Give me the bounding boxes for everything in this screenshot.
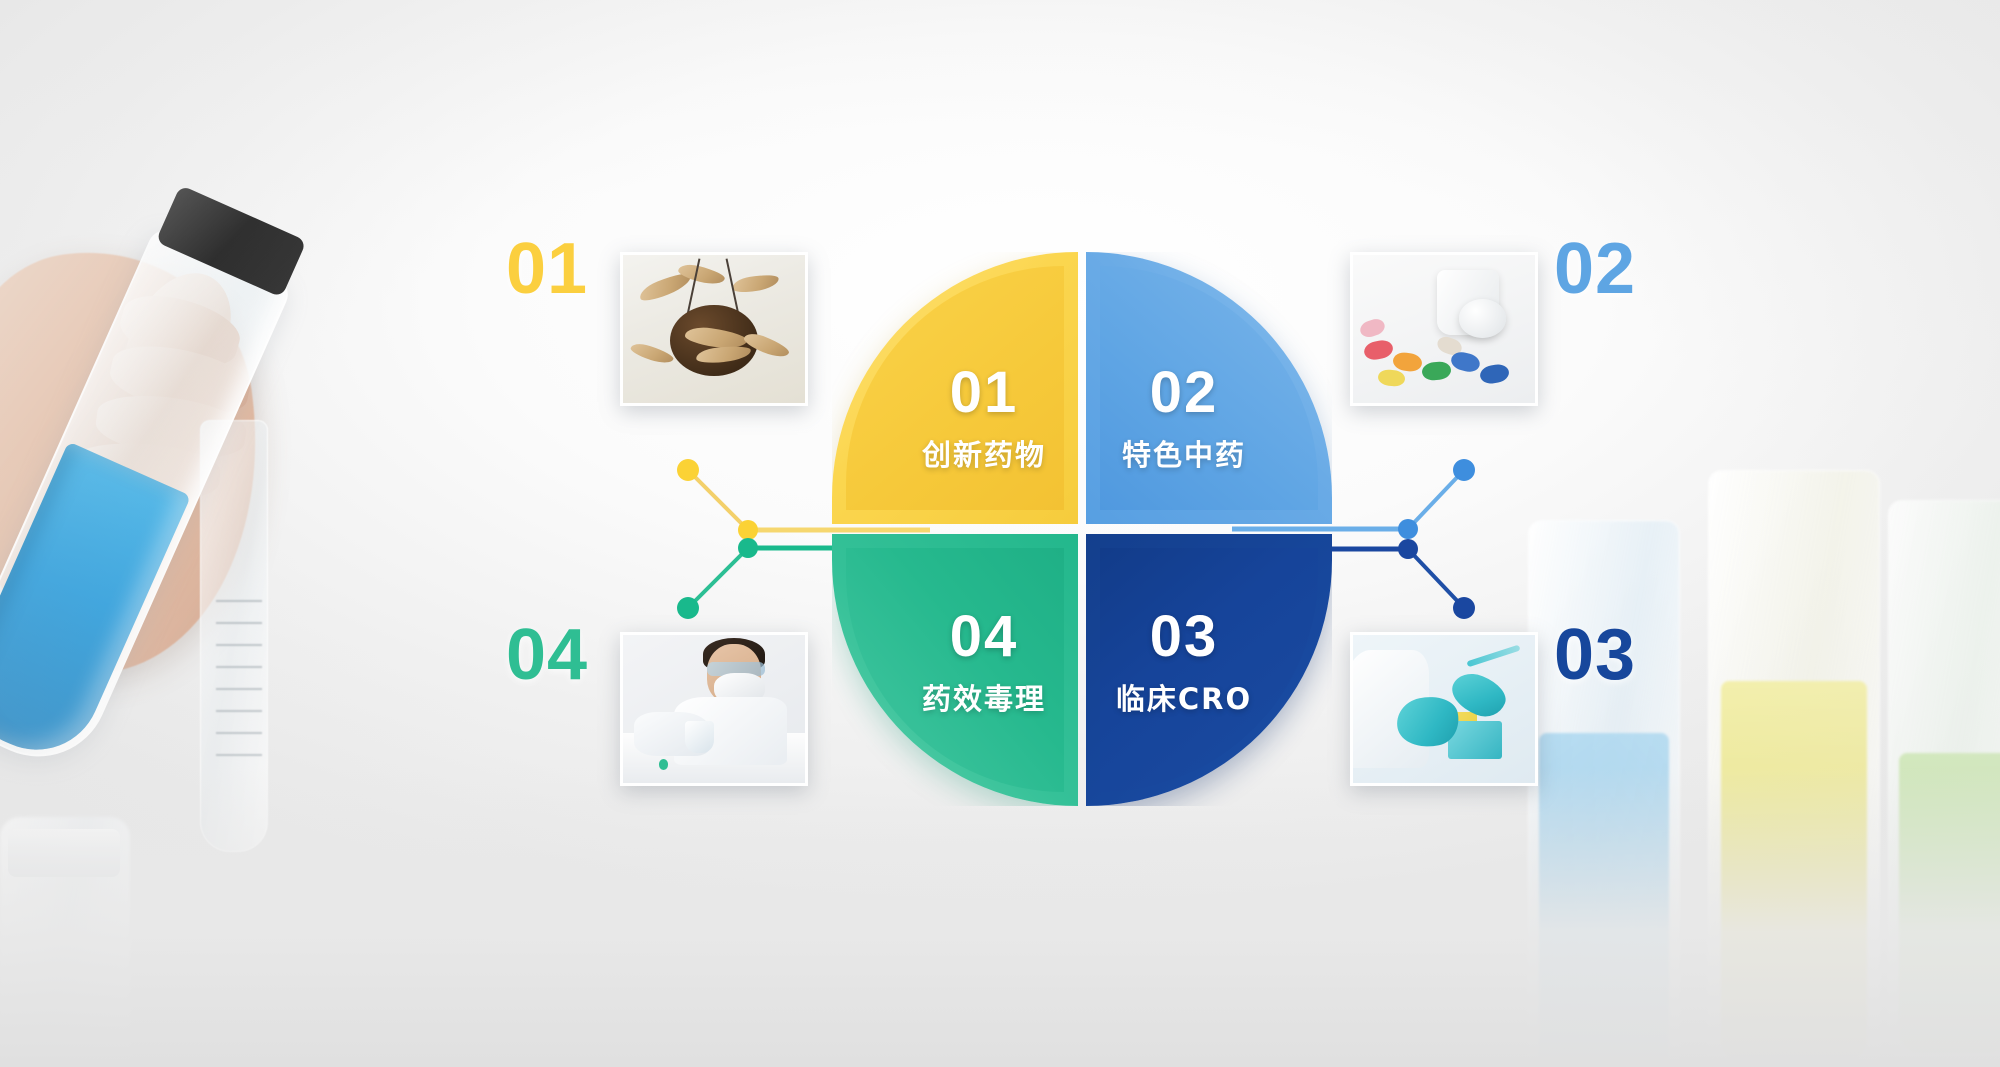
quadrant-04-number: 04 <box>894 608 1074 666</box>
quadrant-02-label: 特色中药 <box>1094 432 1274 474</box>
thumbnail-04-scientist[interactable] <box>620 632 808 786</box>
herbs-on-scale-image <box>623 255 805 403</box>
background-floor <box>0 767 2000 1067</box>
pills-and-jar-image <box>1353 255 1535 403</box>
outer-number-01: 01 <box>506 228 588 310</box>
quadrant-03-label: 临床CRO <box>1094 676 1274 718</box>
gloved-hands-sample-image <box>1353 635 1535 783</box>
outer-number-02: 02 <box>1554 228 1636 310</box>
quadrant-04-text: 04 药效毒理 <box>894 608 1074 718</box>
quadrant-03-number: 03 <box>1094 608 1274 666</box>
quadrant-02-text: 02 特色中药 <box>1094 364 1274 474</box>
scientist-in-lab-image <box>623 635 805 783</box>
quadrant-01-number: 01 <box>894 364 1074 422</box>
quadrant-04-label: 药效毒理 <box>894 676 1074 718</box>
outer-number-04: 04 <box>506 614 588 696</box>
thumbnail-01-herbs[interactable] <box>620 252 808 406</box>
quadrant-01-text: 01 创新药物 <box>894 364 1074 474</box>
quadrant-01-label: 创新药物 <box>894 432 1074 474</box>
thumbnail-02-pills[interactable] <box>1350 252 1538 406</box>
quadrant-03-text: 03 临床CRO <box>1094 608 1274 718</box>
quadrant-02-number: 02 <box>1094 364 1274 422</box>
outer-number-03: 03 <box>1554 614 1636 696</box>
quadrant-wheel: 01 创新药物 02 特色中药 03 临床CRO 04 药效毒理 <box>832 252 1332 812</box>
thumbnail-03-clinical[interactable] <box>1350 632 1538 786</box>
